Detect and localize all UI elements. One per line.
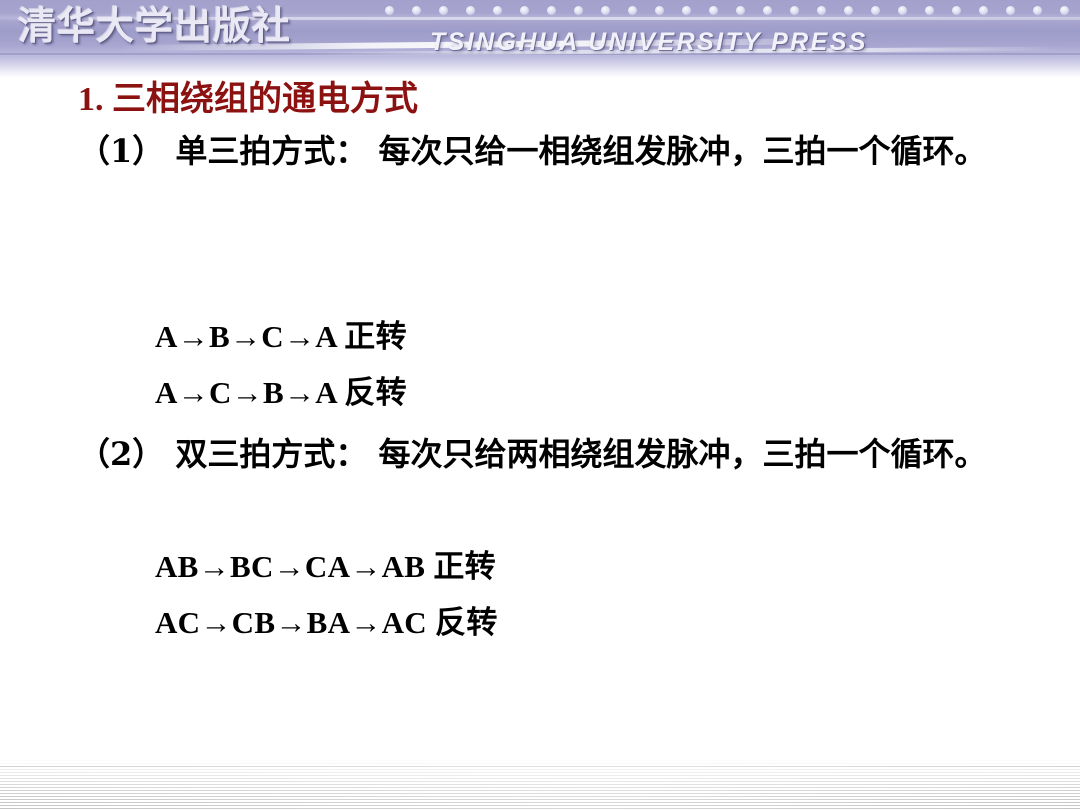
slide-content: 1. 三相绕组的通电方式 （1） 单三拍方式： 每次只给一相绕组发脉冲，三拍一个…: [0, 74, 1080, 754]
sequence-line-reverse-single: A→C→B→A 反转: [155, 372, 407, 414]
banner-dot: [547, 6, 556, 15]
slide-title-number: 1.: [78, 81, 104, 118]
banner-dot: [682, 6, 691, 15]
footer-stripe-pattern: [0, 758, 1080, 810]
sequence-line-forward-double: AB→BC→CA→AB 正转: [155, 546, 496, 588]
banner-dot: [493, 6, 502, 15]
paragraph-single-three-beat: （1） 单三拍方式： 每次只给一相绕组发脉冲，三拍一个循环。: [78, 126, 1028, 176]
banner-dot: [790, 6, 799, 15]
publisher-logo-chinese: 清华大学出版社: [18, 2, 291, 50]
banner-dot: [601, 6, 610, 15]
banner-dot: [1060, 6, 1069, 15]
banner-dot: [925, 6, 934, 15]
banner-dot: [466, 6, 475, 15]
banner-dot: [1006, 6, 1015, 15]
banner-dot: [763, 6, 772, 15]
banner-dot: [574, 6, 583, 15]
banner-dot: [628, 6, 637, 15]
slide-header-banner: 清华大学出版社 TSINGHUA UNIVERSITY PRESS: [0, 0, 1080, 78]
banner-dot: [952, 6, 961, 15]
slide-canvas: 清华大学出版社 TSINGHUA UNIVERSITY PRESS 1. 三相绕…: [0, 0, 1080, 810]
banner-dot: [736, 6, 745, 15]
slide-title-text: 三相绕组的通电方式: [112, 81, 418, 118]
banner-dot: [439, 6, 448, 15]
banner-dot: [520, 6, 529, 15]
banner-dot: [817, 6, 826, 15]
banner-dot: [385, 6, 394, 15]
banner-dot: [844, 6, 853, 15]
sequence-line-forward-single: A→B→C→A 正转: [155, 316, 407, 358]
banner-dot: [1033, 6, 1042, 15]
banner-dot: [412, 6, 421, 15]
banner-dot: [655, 6, 664, 15]
paragraph-double-three-beat: （2） 双三拍方式： 每次只给两相绕组发脉冲，三拍一个循环。: [78, 429, 1028, 479]
banner-dot: [979, 6, 988, 15]
publisher-logo-english: TSINGHUA UNIVERSITY PRESS: [430, 28, 868, 57]
slide-title: 1. 三相绕组的通电方式: [78, 78, 418, 122]
slide-footer: [0, 758, 1080, 810]
banner-dot: [898, 6, 907, 15]
sequence-line-reverse-double: AC→CB→BA→AC 反转: [155, 602, 498, 644]
banner-dot: [871, 6, 880, 15]
banner-dot: [709, 6, 718, 15]
